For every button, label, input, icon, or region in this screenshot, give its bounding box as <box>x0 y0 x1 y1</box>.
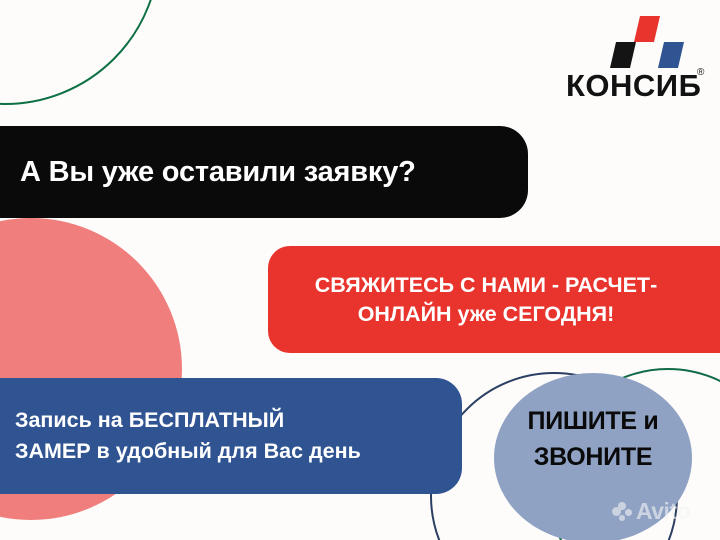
avito-watermark: Avito <box>612 500 690 523</box>
contact-line-2: ОНЛАЙН уже СЕГОДНЯ! <box>286 300 686 329</box>
headline-banner: А Вы уже оставили заявку? <box>0 126 528 218</box>
booking-line-2: ЗАМЕР в удобный для Вас день <box>15 436 361 467</box>
brand-logo: КОНСИБ ® <box>566 16 706 108</box>
call-to-action-line-2: ЗВОНИТЕ <box>494 440 692 476</box>
headline-text: А Вы уже оставили заявку? <box>20 156 416 189</box>
contact-banner: СВЯЖИТЕСЬ С НАМИ - РАСЧЕТ- ОНЛАЙН уже СЕ… <box>268 246 720 353</box>
booking-banner: Запись на БЕСПЛАТНЫЙ ЗАМЕР в удобный для… <box>0 378 462 494</box>
booking-line-1: Запись на БЕСПЛАТНЫЙ <box>15 405 361 436</box>
registered-trademark-mark: ® <box>697 68 704 78</box>
call-to-action-line-1: ПИШИТЕ и <box>494 404 692 440</box>
poster-canvas: КОНСИБ ® А Вы уже оставили заявку? СВЯЖИ… <box>0 0 720 540</box>
green-ring-top-left-decoration <box>0 0 160 105</box>
booking-text-stack: Запись на БЕСПЛАТНЫЙ ЗАМЕР в удобный для… <box>15 405 361 466</box>
contact-text-stack: СВЯЖИТЕСЬ С НАМИ - РАСЧЕТ- ОНЛАЙН уже СЕ… <box>286 271 686 328</box>
brand-wordmark: КОНСИБ <box>566 70 698 101</box>
avito-dots-icon <box>612 502 632 522</box>
avito-watermark-label: Avito <box>636 500 690 523</box>
call-to-action-text: ПИШИТЕ и ЗВОНИТЕ <box>494 404 692 475</box>
konsib-logo-mark-icon <box>610 16 684 68</box>
contact-line-1: СВЯЖИТЕСЬ С НАМИ - РАСЧЕТ- <box>286 271 686 300</box>
